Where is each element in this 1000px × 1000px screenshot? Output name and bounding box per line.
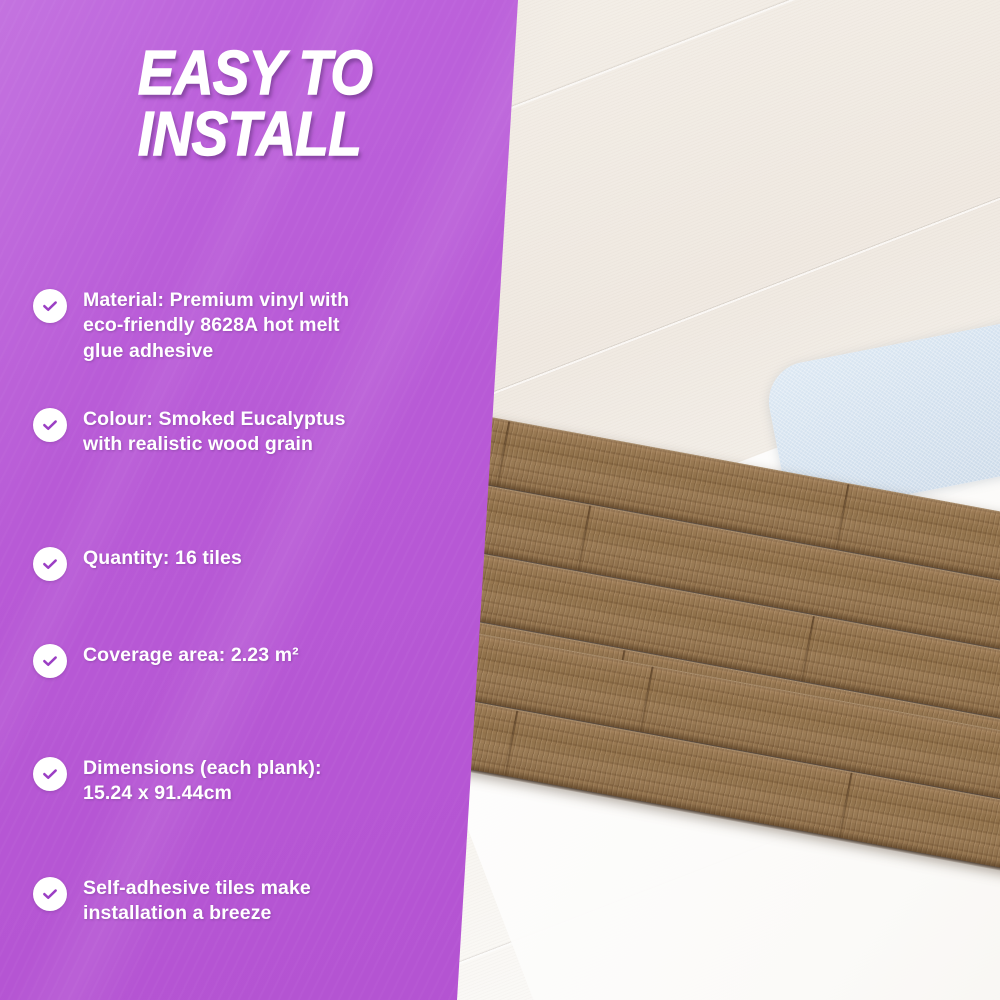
list-item: Colour: Smoked Eucalyptus with realistic… (33, 407, 373, 458)
purple-info-panel: EASY TO INSTALL Material: Premium vinyl … (0, 0, 540, 1000)
list-item-label: Dimensions (each plank): 15.24 x 91.44cm (83, 756, 373, 807)
check-icon (33, 289, 67, 323)
list-item-label: Self-adhesive tiles make installation a … (83, 876, 373, 927)
feature-list: Material: Premium vinyl with eco-friendl… (0, 0, 460, 1000)
plank-joint (839, 773, 853, 838)
product-feature-graphic: EASY TO INSTALL Material: Premium vinyl … (0, 0, 1000, 1000)
plank-joint (504, 711, 518, 776)
plank-joint (836, 484, 850, 549)
list-item-label: Material: Premium vinyl with eco-friendl… (83, 288, 373, 364)
list-item: Quantity: 16 tiles (33, 546, 242, 581)
plank-joint (640, 667, 654, 732)
list-item: Dimensions (each plank): 15.24 x 91.44cm (33, 756, 373, 807)
list-item-label: Coverage area: 2.23 m² (83, 643, 299, 668)
check-icon (33, 877, 67, 911)
check-icon (33, 547, 67, 581)
list-item: Material: Premium vinyl with eco-friendl… (33, 288, 373, 364)
plank-joint (577, 505, 591, 570)
list-item-label: Colour: Smoked Eucalyptus with realistic… (83, 407, 373, 458)
plank-joint (801, 616, 815, 681)
plank-joint (496, 421, 510, 486)
check-icon (33, 644, 67, 678)
check-icon (33, 757, 67, 791)
list-item-label: Quantity: 16 tiles (83, 546, 242, 571)
list-item: Coverage area: 2.23 m² (33, 643, 299, 678)
check-icon (33, 408, 67, 442)
list-item: Self-adhesive tiles make installation a … (33, 876, 373, 927)
